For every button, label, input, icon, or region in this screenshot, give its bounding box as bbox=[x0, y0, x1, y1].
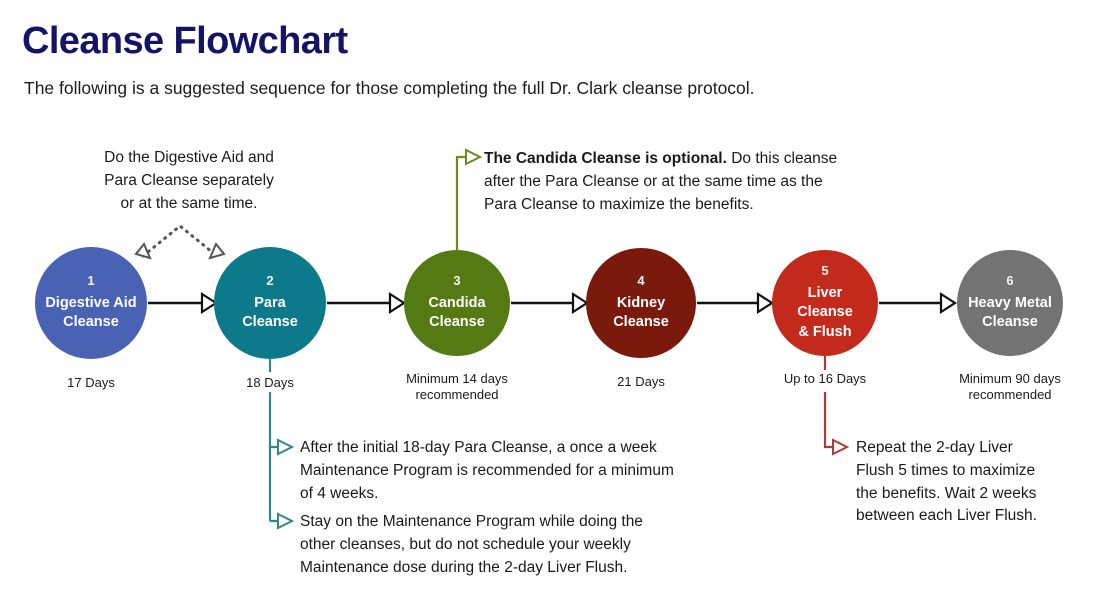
node-number: 1 bbox=[87, 274, 94, 287]
node-heavy-metal-cleanse[interactable]: 6 Heavy MetalCleanse bbox=[957, 250, 1063, 356]
annotation-digestive-para: Do the Digestive Aid andPara Cleanse sep… bbox=[78, 147, 300, 215]
node-number: 6 bbox=[1006, 274, 1013, 287]
node-number: 2 bbox=[266, 274, 273, 287]
node-kidney-cleanse[interactable]: 4 KidneyCleanse bbox=[586, 248, 696, 358]
node-label: Liver Cleanse& Flush bbox=[772, 284, 878, 342]
node-label: CandidaCleanse bbox=[422, 294, 491, 333]
duration-candida-cleanse: Minimum 14 daysrecommended bbox=[377, 371, 537, 404]
dotted-link-1-2 bbox=[136, 226, 224, 258]
node-number: 5 bbox=[821, 264, 828, 277]
duration-digestive-aid-cleanse: 17 Days bbox=[11, 375, 171, 391]
duration-para-cleanse: 18 Days bbox=[190, 375, 350, 391]
arrowhead-5-to-6 bbox=[941, 294, 955, 312]
node-label: Digestive AidCleanse bbox=[39, 294, 142, 333]
node-number: 4 bbox=[637, 274, 644, 287]
node-candida-cleanse[interactable]: 3 CandidaCleanse bbox=[404, 250, 510, 356]
node-label: KidneyCleanse bbox=[607, 294, 675, 333]
flowchart-page: Cleanse Flowchart The following is a sug… bbox=[0, 0, 1100, 600]
duration-kidney-cleanse: 21 Days bbox=[561, 374, 721, 390]
node-digestive-aid-cleanse[interactable]: 1 Digestive AidCleanse bbox=[35, 247, 147, 359]
annotation-candida: The Candida Cleanse is optional. Do this… bbox=[484, 148, 884, 216]
duration-heavy-metal-cleanse: Minimum 90 daysrecommended bbox=[930, 371, 1090, 404]
arrowhead-4-to-5 bbox=[758, 294, 772, 312]
annotation-liver-note: Repeat the 2-day LiverFlush 5 times to m… bbox=[856, 437, 1088, 528]
duration-liver-cleanse-and-flush: Up to 16 Days bbox=[745, 371, 905, 387]
node-number: 3 bbox=[453, 274, 460, 287]
arrowhead-2-to-3 bbox=[390, 294, 404, 312]
node-liver-cleanse-and-flush[interactable]: 5 Liver Cleanse& Flush bbox=[772, 250, 878, 356]
candida-connector bbox=[457, 150, 480, 250]
node-label: Heavy MetalCleanse bbox=[962, 294, 1058, 333]
annotation-para-note-1: After the initial 18-day Para Cleanse, a… bbox=[300, 437, 752, 505]
node-para-cleanse[interactable]: 2 ParaCleanse bbox=[214, 247, 326, 359]
annotation-candida-lead: The Candida Cleanse is optional. bbox=[484, 150, 727, 167]
node-label: ParaCleanse bbox=[236, 294, 304, 333]
arrowhead-3-to-4 bbox=[573, 294, 587, 312]
annotation-para-note-2: Stay on the Maintenance Program while do… bbox=[300, 511, 720, 579]
